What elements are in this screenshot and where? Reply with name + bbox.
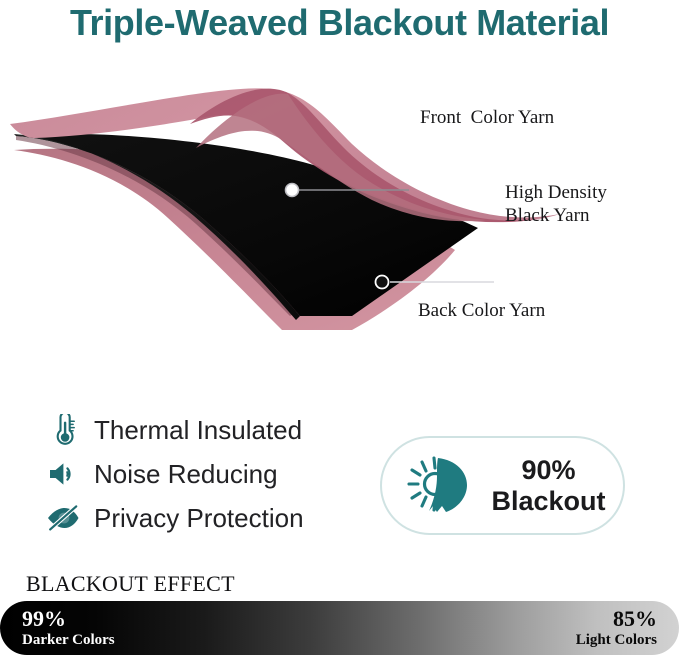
darker-colors-caption: Darker Colors xyxy=(22,631,115,649)
thermometer-icon xyxy=(42,411,84,449)
page-title: Triple-Weaved Blackout Material xyxy=(0,2,679,44)
feature-label-thermal-insulated: Thermal Insulated xyxy=(94,415,302,446)
feature-row-privacy-protection: Privacy Protection xyxy=(42,496,372,540)
darker-colors-percent: 99% xyxy=(22,607,66,630)
gradient-bar-right-stat: 85% Light Colors xyxy=(576,601,657,655)
badge-text: 90% Blackout xyxy=(480,455,623,515)
feature-list: Thermal Insulated Noise Reducing Privacy… xyxy=(42,408,372,540)
badge-caption: Blackout xyxy=(491,486,605,516)
sun-curtain-icon xyxy=(402,454,480,518)
feature-row-noise-reducing: Noise Reducing xyxy=(42,452,372,496)
feature-label-privacy-protection: Privacy Protection xyxy=(94,503,304,534)
gradient-bar-left-stat: 99% Darker Colors xyxy=(22,601,115,655)
light-colors-percent: 85% xyxy=(613,607,657,630)
blackout-gradient-bar: 99% Darker Colors 85% Light Colors xyxy=(0,601,679,655)
badge-percent: 90% xyxy=(521,455,575,485)
feature-row-thermal-insulated: Thermal Insulated xyxy=(42,408,372,452)
blackout-badge: 90% Blackout xyxy=(380,436,625,535)
speaker-icon xyxy=(42,455,84,493)
callout-label-front-color-yarn: Front Color Yarn xyxy=(420,106,554,129)
blackout-effect-heading: BLACKOUT EFFECT xyxy=(26,571,235,597)
light-colors-caption: Light Colors xyxy=(576,631,657,649)
feature-label-noise-reducing: Noise Reducing xyxy=(94,459,278,490)
callout-label-high-density-black-yarn: High Density Black Yarn xyxy=(505,181,607,227)
callout-label-back-color-yarn: Back Color Yarn xyxy=(418,299,545,322)
eye-slash-icon xyxy=(42,499,84,537)
